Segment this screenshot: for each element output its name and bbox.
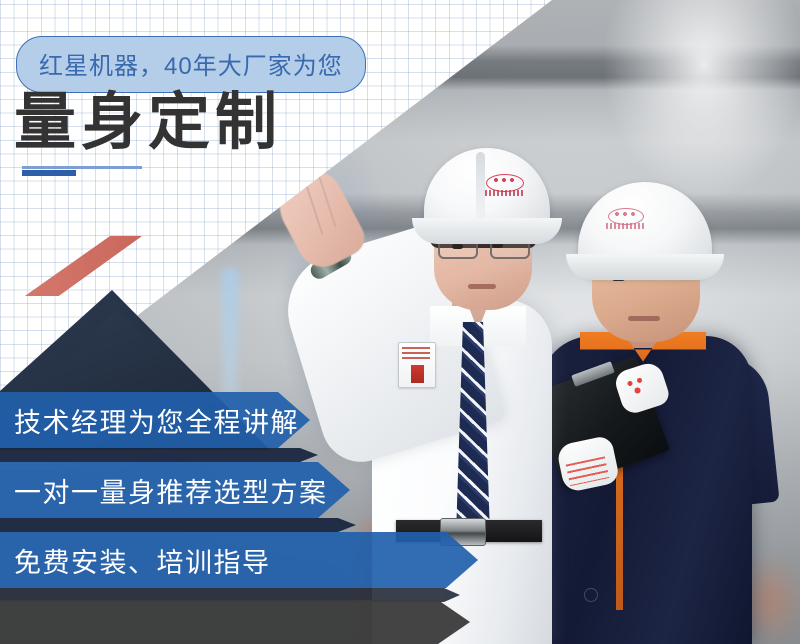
feature-banner-separator-1 — [0, 448, 318, 462]
worker-right-jacket-button — [584, 588, 598, 602]
title-underline-dark — [22, 170, 76, 176]
promo-banner-canvas: 红星机器，40年大厂家为您 量身定制 技术经理为您全程讲解 一对一量身推荐选型方… — [0, 0, 800, 644]
feature-banner-1-label: 技术经理为您全程讲解 — [0, 401, 299, 440]
brand-tagline-badge: 红星机器，40年大厂家为您 — [16, 36, 366, 93]
feature-banner-3: 免费安装、培训指导 — [0, 532, 478, 588]
feature-banner-separator-2 — [0, 518, 356, 532]
feature-banner-3-label: 免费安装、培训指导 — [0, 541, 271, 580]
page-title: 量身定制 — [14, 92, 282, 154]
feature-banner-2-label: 一对一量身推荐选型方案 — [0, 471, 328, 510]
engineer-id-badge — [398, 342, 436, 388]
bottom-grey-band — [0, 600, 470, 644]
title-underline-light — [22, 166, 142, 169]
feature-banner-2: 一对一量身推荐选型方案 — [0, 462, 350, 518]
feature-banner-1: 技术经理为您全程讲解 — [0, 392, 310, 448]
bottom-dark-strip — [0, 588, 460, 602]
worker-right-hardhat-brim — [566, 254, 724, 280]
worker-right-mouth — [628, 316, 660, 321]
